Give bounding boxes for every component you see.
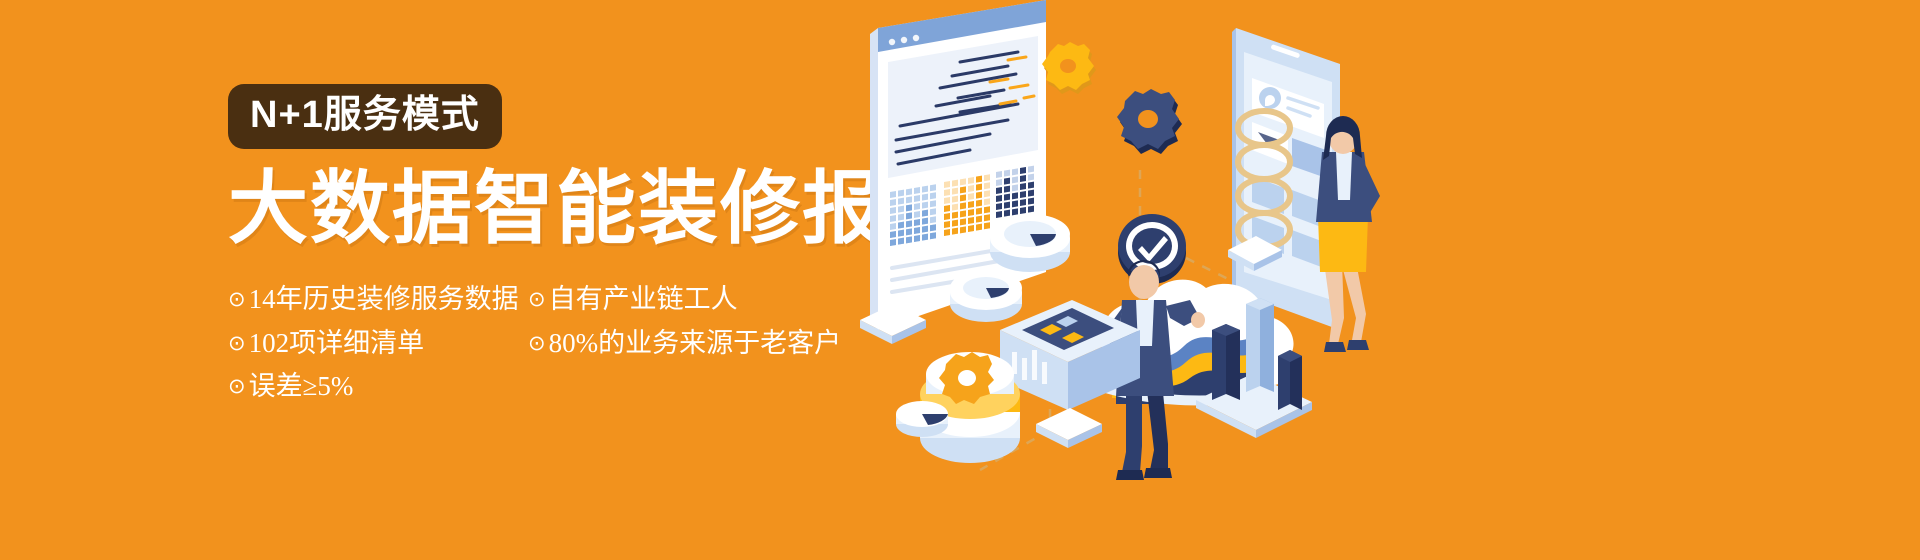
- gear-yellow: [1042, 42, 1096, 94]
- list-item-label: 误差≥5%: [249, 365, 354, 409]
- list-item: ⊙ 14年历史装修服务数据: [228, 278, 528, 322]
- shoe: [1324, 342, 1346, 352]
- shoe: [1116, 470, 1144, 480]
- list-item: ⊙ 80%的业务来源于老客户: [528, 322, 868, 366]
- bullet-dot-icon: ⊙: [528, 326, 546, 360]
- floating-card: [1036, 408, 1102, 448]
- bullet-dot-icon: ⊙: [528, 282, 546, 316]
- feature-list: ⊙ 14年历史装修服务数据 ⊙ 102项详细清单 ⊙ 误差≥5% ⊙ 自有产业链…: [228, 278, 888, 409]
- bullet-dot-icon: ⊙: [228, 282, 246, 316]
- isometric-illustration: [840, 0, 1920, 560]
- feature-list-column-left: ⊙ 14年历史装修服务数据 ⊙ 102项详细清单 ⊙ 误差≥5%: [228, 278, 528, 409]
- hand: [1191, 312, 1205, 328]
- feature-list-column-right: ⊙ 自有产业链工人 ⊙ 80%的业务来源于老客户: [528, 278, 868, 409]
- list-item: ⊙ 误差≥5%: [228, 365, 528, 409]
- list-item: ⊙ 102项详细清单: [228, 322, 528, 366]
- service-mode-badge: N+1服务模式: [228, 84, 502, 149]
- bullet-dot-icon: ⊙: [228, 326, 246, 360]
- list-item: ⊙ 自有产业链工人: [528, 278, 868, 322]
- bullet-dot-icon: ⊙: [228, 369, 246, 403]
- shoe: [1144, 468, 1172, 478]
- list-item-label: 102项详细清单: [249, 322, 425, 366]
- promo-banner: N+1服务模式 大数据智能装修报价 ⊙ 14年历史装修服务数据 ⊙ 102项详细…: [0, 0, 1920, 560]
- gear-navy: [1117, 89, 1182, 154]
- list-item-label: 14年历史装修服务数据: [249, 278, 519, 322]
- list-item-label: 自有产业链工人: [549, 278, 738, 322]
- server-stack: [896, 401, 948, 437]
- list-item-label: 80%的业务来源于老客户: [549, 322, 842, 366]
- shoe: [1347, 340, 1369, 350]
